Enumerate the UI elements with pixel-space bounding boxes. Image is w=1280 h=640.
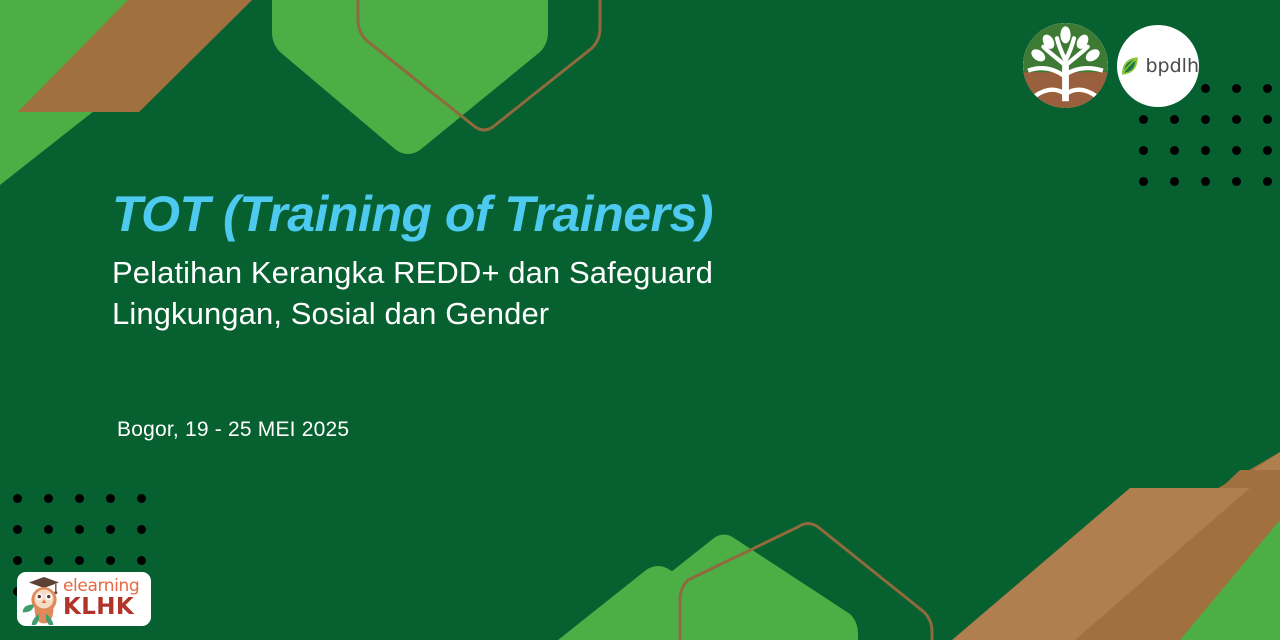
elearning-klhk-logo: elearning KLHK xyxy=(17,572,151,626)
top-center-hexagon-outline xyxy=(358,0,600,130)
slide-text-block: TOT (Training of Trainers) Pelatihan Ker… xyxy=(112,186,952,334)
slide-title: TOT (Training of Trainers) xyxy=(112,186,952,242)
elearning-wordmark: elearning KLHK xyxy=(63,578,139,619)
dot xyxy=(75,556,84,565)
dot xyxy=(13,494,22,503)
klhk-label: KLHK xyxy=(63,595,139,619)
top-left-green-band-3 xyxy=(0,62,78,178)
dot xyxy=(1139,146,1148,155)
dot xyxy=(106,494,115,503)
bottom-right-brown-band-2 xyxy=(1010,452,1280,640)
presentation-slide: TOT (Training of Trainers) Pelatihan Ker… xyxy=(0,0,1280,640)
bottom-right-green-band xyxy=(1160,560,1280,640)
dot xyxy=(106,556,115,565)
dot xyxy=(1139,115,1148,124)
owl-graduate-icon xyxy=(21,573,67,625)
bottom-right-brown-overlay xyxy=(1060,470,1280,640)
dot xyxy=(1263,84,1272,93)
bottom-center-hexagon-filled-body xyxy=(610,535,858,640)
dot xyxy=(1263,146,1272,155)
dot xyxy=(13,525,22,534)
bottom-right-brown-band-3 xyxy=(960,480,1280,640)
bpdlh-wordmark: bpdlh xyxy=(1145,57,1199,76)
dot xyxy=(44,525,53,534)
dot xyxy=(1232,115,1241,124)
dot xyxy=(75,494,84,503)
dot xyxy=(1263,177,1272,186)
slide-date-location: Bogor, 19 - 25 MEI 2025 xyxy=(117,418,349,442)
dot xyxy=(137,556,146,565)
dot xyxy=(1232,84,1241,93)
dot xyxy=(75,525,84,534)
tree-seal-icon xyxy=(1023,23,1108,108)
dot xyxy=(44,556,53,565)
klhk-tree-seal-logo xyxy=(1023,23,1108,108)
top-left-brown-band xyxy=(18,0,252,112)
bottom-right-green-band-2 xyxy=(1140,500,1280,640)
dot xyxy=(1201,84,1210,93)
bottom-right-brown-overlay-2 xyxy=(952,488,1250,640)
dot xyxy=(1201,146,1210,155)
dot xyxy=(1232,146,1241,155)
dot xyxy=(1263,115,1272,124)
top-center-hexagon-filled xyxy=(272,0,548,154)
dot xyxy=(1170,146,1179,155)
dot xyxy=(1201,177,1210,186)
top-left-brown-band-wide xyxy=(18,0,252,112)
bottom-right-brown-band xyxy=(958,452,1280,640)
dot xyxy=(137,525,146,534)
dot xyxy=(44,494,53,503)
dot xyxy=(1170,177,1179,186)
top-left-green-band-2 xyxy=(0,0,235,185)
elearning-label: elearning xyxy=(63,578,139,595)
dot xyxy=(1139,177,1148,186)
dot xyxy=(1201,115,1210,124)
bottom-right-green-band-3 xyxy=(1150,498,1280,640)
dot xyxy=(1170,115,1179,124)
top-left-green-band xyxy=(0,0,120,175)
leaf-icon xyxy=(1117,53,1141,79)
bottom-center-hexagon-filled xyxy=(540,566,812,640)
bottom-center-hexagon-outline xyxy=(680,524,932,640)
dot xyxy=(1232,177,1241,186)
dot xyxy=(137,494,146,503)
slide-subtitle: Pelatihan Kerangka REDD+ dan Safeguard L… xyxy=(112,252,842,334)
bpdlh-logo: bpdlh xyxy=(1117,25,1199,107)
dot xyxy=(106,525,115,534)
dot xyxy=(13,556,22,565)
